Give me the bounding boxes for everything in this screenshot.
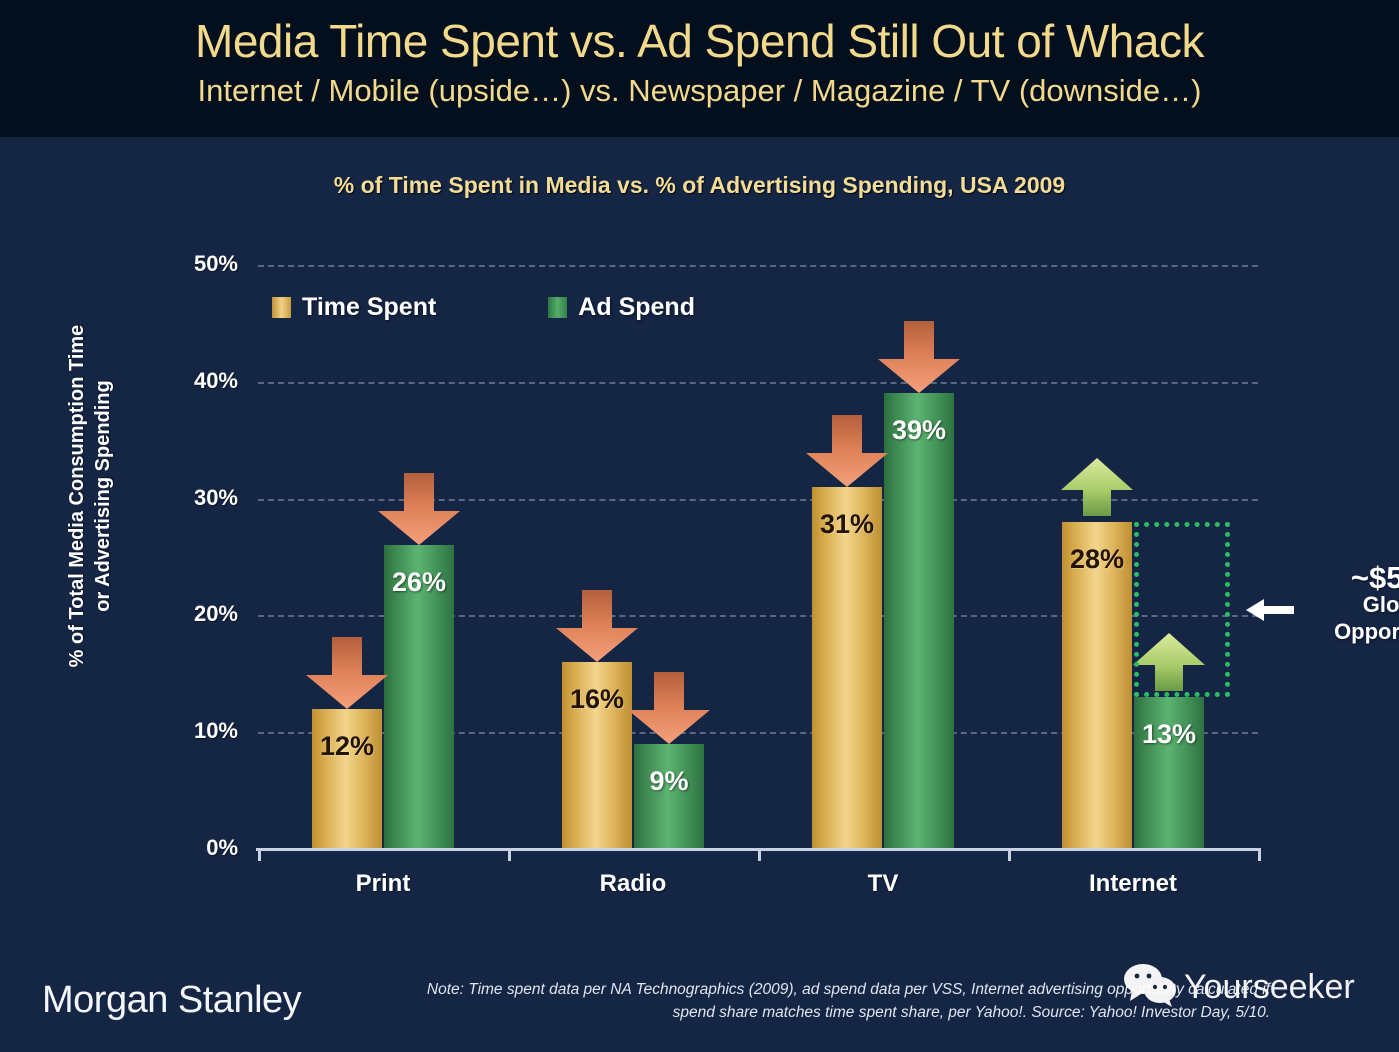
opportunity-callout-arrow-icon: [1244, 595, 1296, 630]
slide-title: Media Time Spent vs. Ad Spend Still Out …: [0, 14, 1399, 68]
legend-entry-ad-spend: Ad Spend: [548, 293, 695, 322]
wechat-logo-icon: [1122, 963, 1178, 1012]
down-arrow-icon: [553, 588, 641, 664]
bar-radio-time-spent: 16%: [562, 662, 632, 849]
bar-value-label: 28%: [1062, 544, 1132, 575]
y-axis-tick-label: 50%: [118, 251, 238, 277]
x-axis-tick: [1008, 848, 1011, 861]
chart-title: % of Time Spent in Media vs. % of Advert…: [0, 172, 1399, 199]
chart-legend: Time Spent Ad Spend: [272, 293, 695, 322]
bar-value-label: 39%: [884, 415, 954, 446]
bar-internet-ad-spend: 13%: [1134, 697, 1204, 849]
bar-value-label: 9%: [634, 766, 704, 797]
x-axis-label-print: Print: [283, 870, 483, 898]
x-axis-tick: [258, 848, 261, 861]
opportunity-line-3: Opportunity: [1302, 618, 1399, 645]
bar-internet-time-spent: 28%: [1062, 522, 1132, 849]
title-band: Media Time Spent vs. Ad Spend Still Out …: [0, 0, 1399, 137]
y-axis-tick-label: 20%: [118, 601, 238, 627]
opportunity-line-2: Global: [1302, 591, 1399, 618]
opportunity-amount: ~$50B: [1302, 564, 1399, 591]
y-axis-title-line-1: % of Total Media Consumption Time: [66, 325, 88, 668]
bar-value-label: 13%: [1134, 719, 1204, 750]
y-axis-tick-label: 10%: [118, 718, 238, 744]
x-axis-label-tv: TV: [783, 870, 983, 898]
legend-entry-time-spent: Time Spent: [272, 293, 436, 322]
slide-subtitle: Internet / Mobile (upside…) vs. Newspape…: [0, 73, 1399, 109]
bar-print-ad-spend: 26%: [384, 545, 454, 849]
down-arrow-icon: [625, 670, 713, 746]
x-axis-label-radio: Radio: [533, 870, 733, 898]
legend-label-ad-spend: Ad Spend: [578, 293, 695, 322]
bar-value-label: 31%: [812, 509, 882, 540]
bar-tv-ad-spend: 39%: [884, 393, 954, 849]
up-arrow-icon: [1059, 456, 1135, 518]
watermark-text: Yourseeker: [1184, 968, 1355, 1007]
x-axis-tick: [508, 848, 511, 861]
morgan-stanley-logo: Morgan Stanley: [42, 979, 301, 1022]
legend-swatch-icon-ad-spend: [548, 297, 567, 318]
bar-print-time-spent: 12%: [312, 709, 382, 849]
watermark: Yourseeker: [1122, 963, 1355, 1012]
opportunity-callout-text: ~$50B Global Opportunity: [1302, 564, 1399, 645]
y-axis-tick-label: 0%: [118, 835, 238, 861]
y-axis-tick-label: 30%: [118, 485, 238, 511]
plot-region: 12%26%16%9%31%39%28%13%: [258, 265, 1258, 849]
y-axis-title: % of Total Media Consumption Time or Adv…: [64, 176, 116, 816]
bar-tv-time-spent: 31%: [812, 487, 882, 849]
bar-value-label: 26%: [384, 567, 454, 598]
x-axis-tick: [1258, 848, 1261, 861]
legend-swatch-icon-time-spent: [272, 297, 291, 318]
down-arrow-icon: [875, 319, 963, 395]
legend-label-time-spent: Time Spent: [302, 293, 436, 322]
down-arrow-icon: [303, 635, 391, 711]
x-axis-tick: [758, 848, 761, 861]
bar-radio-ad-spend: 9%: [634, 744, 704, 849]
y-axis-title-line-2: or Advertising Spending: [92, 380, 114, 612]
bar-value-label: 12%: [312, 731, 382, 762]
opportunity-box: [1134, 522, 1230, 697]
bar-value-label: 16%: [562, 684, 632, 715]
x-axis-label-internet: Internet: [1033, 870, 1233, 898]
y-axis-tick-label: 40%: [118, 368, 238, 394]
down-arrow-icon: [803, 413, 891, 489]
down-arrow-icon: [375, 471, 463, 547]
